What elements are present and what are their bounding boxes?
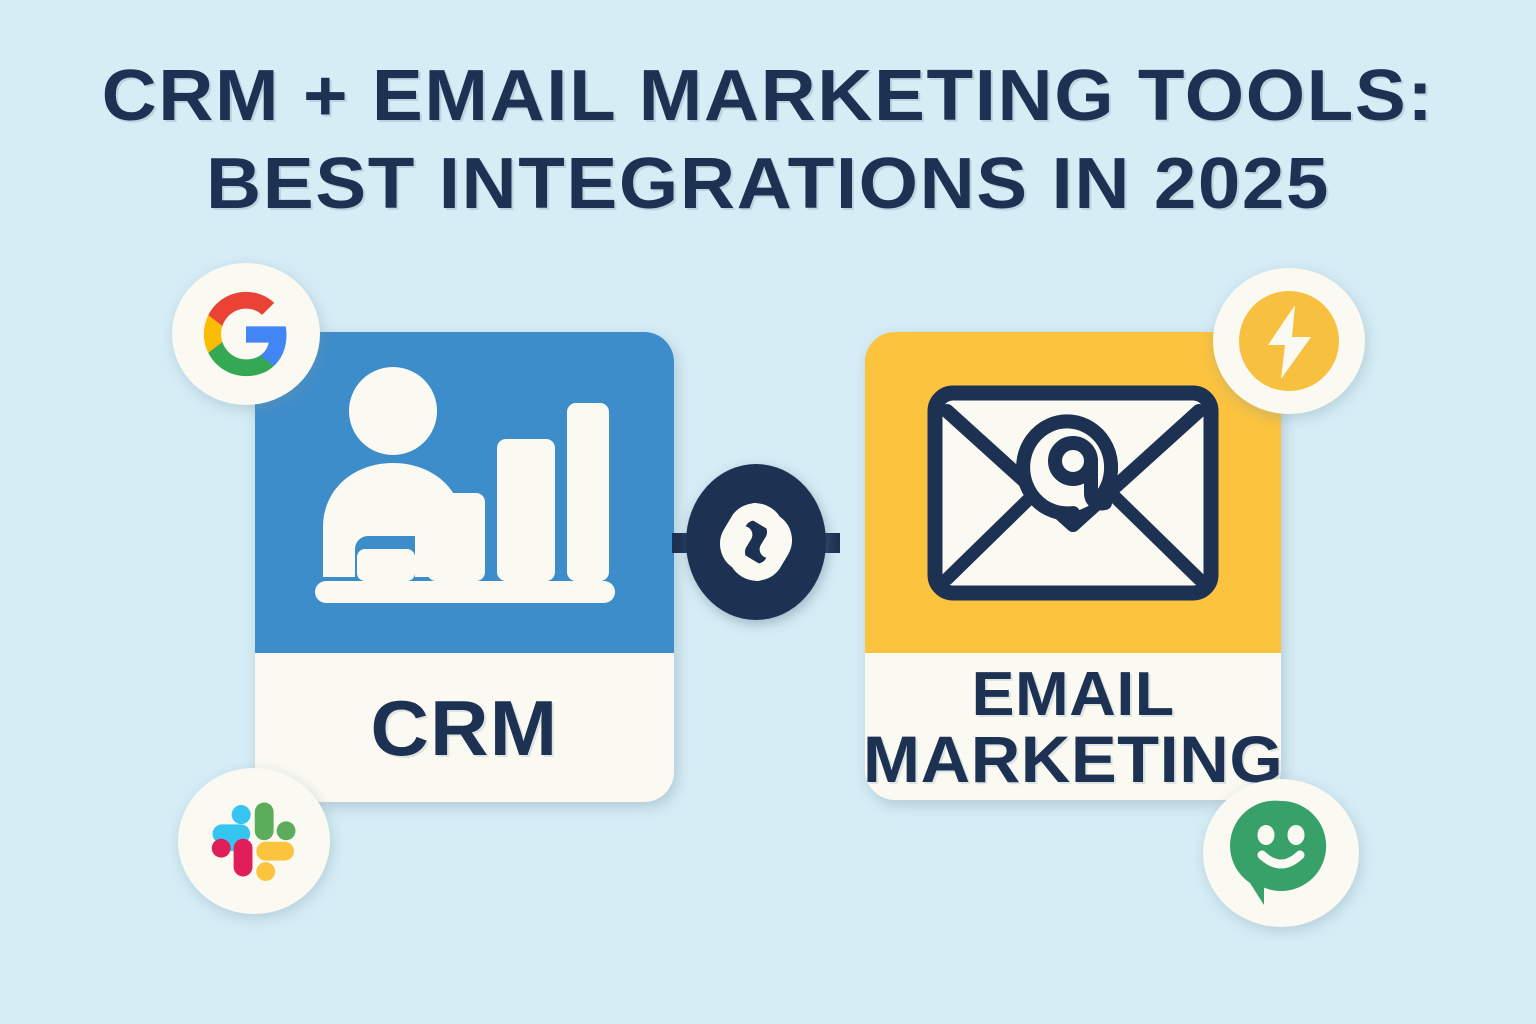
slack-icon [208,795,300,887]
badge-slack[interactable] [178,768,330,914]
email-card-footer: EMAIL MARKETING [865,653,1281,800]
page-title: CRM + EMAIL MARKETING TOOLS: BEST INTEGR… [0,52,1536,228]
email-card-label-line-1: EMAIL [863,663,1283,727]
lightning-bolt-icon [1235,287,1343,395]
infographic-canvas: CRM + EMAIL MARKETING TOOLS: BEST INTEGR… [0,0,1536,1024]
crm-card[interactable]: CRM [255,332,674,802]
crm-card-footer: CRM [255,653,674,802]
user-bar-chart-icon [315,367,615,619]
crm-card-label: CRM [371,687,559,769]
badge-chat[interactable] [1203,779,1359,927]
email-card-header [865,332,1281,653]
page-title-line-2: BEST INTEGRATIONS IN 2025 [0,140,1536,228]
email-card-label: EMAIL MARKETING [863,663,1283,791]
google-g-icon [200,288,292,380]
chat-bubble-smiley-icon [1228,797,1334,909]
envelope-at-icon [927,385,1219,601]
email-marketing-card[interactable]: EMAIL MARKETING [865,332,1281,800]
page-title-line-1: CRM + EMAIL MARKETING TOOLS: [0,52,1536,140]
email-card-label-line-2: MARKETING [863,727,1283,791]
chain-link-icon[interactable] [686,464,826,620]
badge-google[interactable] [172,263,320,405]
badge-automation[interactable] [1213,268,1365,414]
crm-card-header [255,332,674,653]
integration-connector [672,462,840,622]
